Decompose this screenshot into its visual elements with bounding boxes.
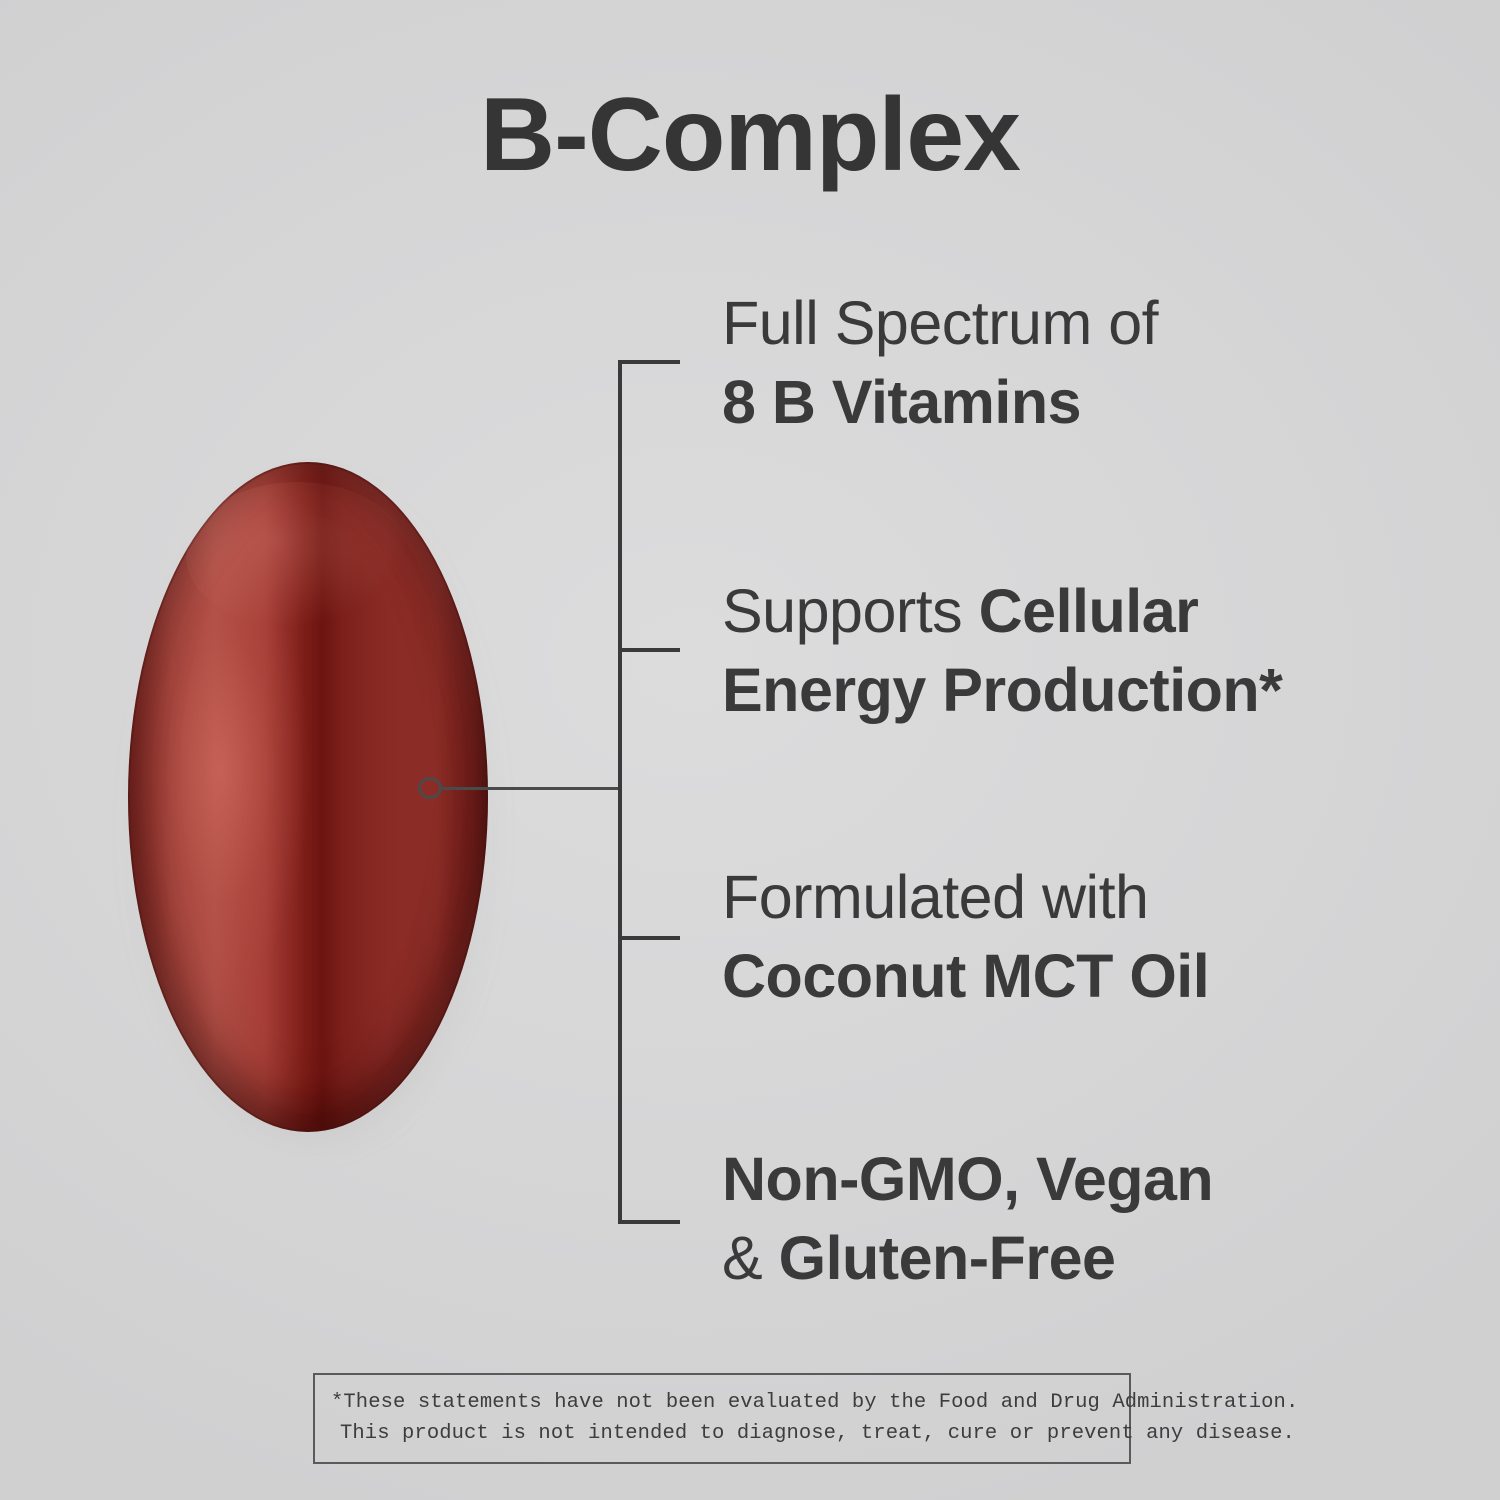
feature-4-line-1: Non-GMO, Vegan — [722, 1140, 1462, 1219]
feature-cellular-energy: Supports Cellular Energy Production* — [722, 572, 1462, 731]
feature-non-gmo-vegan-gluten-free: Non-GMO, Vegan & Gluten-Free — [722, 1140, 1462, 1299]
feature-4-line-2: & Gluten-Free — [722, 1219, 1462, 1298]
disclaimer-line-2: This product is not intended to diagnose… — [331, 1418, 1113, 1449]
callout-tick-1 — [618, 360, 680, 364]
callout-bracket-spine — [618, 360, 622, 1224]
disclaimer-line-1: *These statements have not been evaluate… — [331, 1387, 1113, 1418]
feature-3-line-2: Coconut MCT Oil — [722, 937, 1462, 1016]
feature-2-line-1: Supports Cellular — [722, 572, 1462, 651]
softgel-capsule-image — [128, 462, 494, 1138]
feature-full-spectrum: Full Spectrum of 8 B Vitamins — [722, 284, 1462, 443]
feature-1-line-2: 8 B Vitamins — [722, 363, 1462, 442]
page-title: B-Complex — [0, 78, 1500, 192]
feature-coconut-mct-oil: Formulated with Coconut MCT Oil — [722, 858, 1462, 1017]
callout-leader-line — [441, 787, 621, 790]
feature-1-line-1: Full Spectrum of — [722, 284, 1462, 363]
feature-2-line-2: Energy Production* — [722, 651, 1462, 730]
capsule-callout-marker-icon — [418, 777, 442, 799]
product-infographic: B-Complex Full Spectrum of 8 B Vitamins … — [0, 0, 1500, 1500]
feature-3-line-1: Formulated with — [722, 858, 1462, 937]
callout-tick-2 — [618, 648, 680, 652]
callout-tick-4 — [618, 1220, 680, 1224]
fda-disclaimer-box: *These statements have not been evaluate… — [313, 1373, 1131, 1464]
callout-tick-3 — [618, 936, 680, 940]
